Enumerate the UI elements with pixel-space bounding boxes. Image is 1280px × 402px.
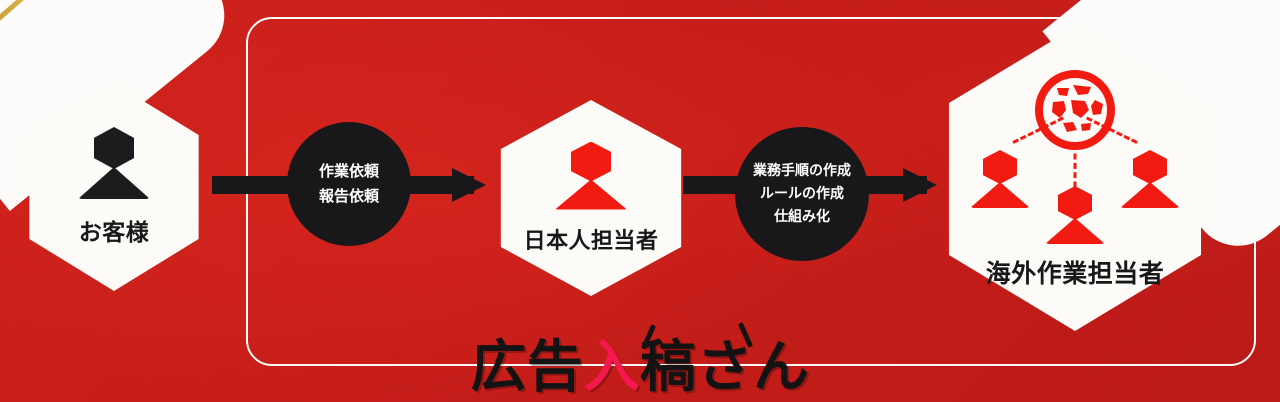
connector-bubble-1: 作業依頼 報告依頼 [287,122,411,246]
person-body [1045,218,1105,244]
person-icon [554,142,628,212]
person-head [1058,186,1092,220]
connector-bubble-line: ルールの作成 [760,183,844,206]
person-body [78,167,150,199]
global-team-network-icon [969,68,1181,246]
globe-icon [1033,68,1117,152]
person-head [983,150,1017,184]
person-body [555,180,627,210]
person-head [571,142,611,182]
person-icon [969,150,1031,208]
flow-node-customer: お客様 [22,83,206,291]
person-body [970,182,1030,208]
person-head [94,127,134,169]
connector-bubble-2: 業務手順の作成 ルールの作成 仕組み化 [735,127,869,261]
person-icon [1044,186,1106,244]
connector-bubble-line: 作業依頼 [319,159,379,184]
flow-node-label: お客様 [79,213,149,247]
network-link-center [1074,154,1077,188]
person-head [1133,150,1167,184]
person-icon [1119,150,1181,208]
person-body [1120,182,1180,208]
flow-node-overseas-staff: 海外作業担当者 [938,27,1212,331]
flow-node-japanese-staff: 日本人担当者 [493,100,689,296]
person-icon [77,127,151,201]
connector-bubble-line: 報告依頼 [319,184,379,209]
connector-bubble-line: 仕組み化 [774,206,830,229]
flow-node-label: 海外作業担当者 [986,254,1165,290]
infographic-banner: お客様 作業依頼 報告依頼 日本人担当者 業務手順の作成 ルールの作成 仕組み化 [0,0,1280,402]
connector-bubble-line: 業務手順の作成 [753,160,851,183]
flow-node-label: 日本人担当者 [524,223,659,255]
